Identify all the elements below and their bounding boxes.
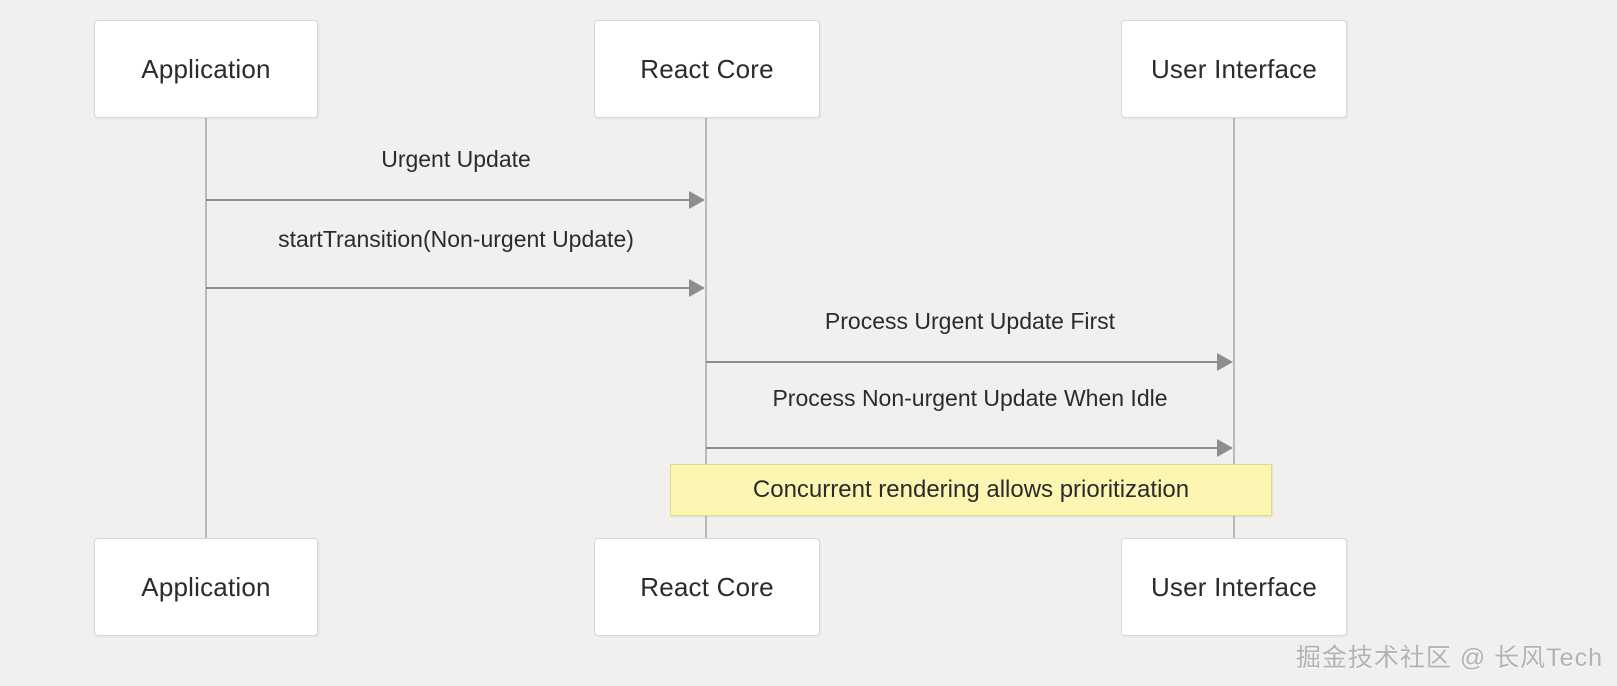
message-2-line xyxy=(206,287,689,289)
participant-application-bottom-label: Application xyxy=(141,572,270,603)
note-concurrent-rendering-text: Concurrent rendering allows prioritizati… xyxy=(753,476,1189,504)
participant-user-interface-bottom-label: User Interface xyxy=(1151,572,1317,603)
participant-react-core-bottom-label: React Core xyxy=(640,572,774,603)
note-concurrent-rendering[interactable]: Concurrent rendering allows prioritizati… xyxy=(670,464,1272,516)
message-3-line xyxy=(706,361,1217,363)
message-1-line xyxy=(206,199,689,201)
participant-application-top-label: Application xyxy=(141,54,270,85)
participant-react-core-bottom[interactable]: React Core xyxy=(594,538,820,636)
message-1-arrowhead xyxy=(689,191,705,209)
participant-user-interface-top-label: User Interface xyxy=(1151,54,1317,85)
lifeline-application xyxy=(205,118,207,538)
sequence-diagram-canvas: Application React Core User Interface Ur… xyxy=(0,0,1617,686)
message-4-line xyxy=(706,447,1217,449)
message-2-arrowhead xyxy=(689,279,705,297)
message-3-label: Process Urgent Update First xyxy=(706,308,1234,335)
participant-react-core-top-label: React Core xyxy=(640,54,774,85)
message-4-label: Process Non-urgent Update When Idle xyxy=(706,385,1234,412)
participant-user-interface-bottom[interactable]: User Interface xyxy=(1121,538,1347,636)
message-1-label: Urgent Update xyxy=(206,146,706,173)
message-4-arrowhead xyxy=(1217,439,1233,457)
participant-react-core-top[interactable]: React Core xyxy=(594,20,820,118)
watermark-text: 掘金技术社区 @ 长风Tech xyxy=(1296,638,1603,674)
participant-application-top[interactable]: Application xyxy=(94,20,318,118)
message-3-arrowhead xyxy=(1217,353,1233,371)
participant-application-bottom[interactable]: Application xyxy=(94,538,318,636)
message-2-label: startTransition(Non-urgent Update) xyxy=(206,226,706,253)
participant-user-interface-top[interactable]: User Interface xyxy=(1121,20,1347,118)
